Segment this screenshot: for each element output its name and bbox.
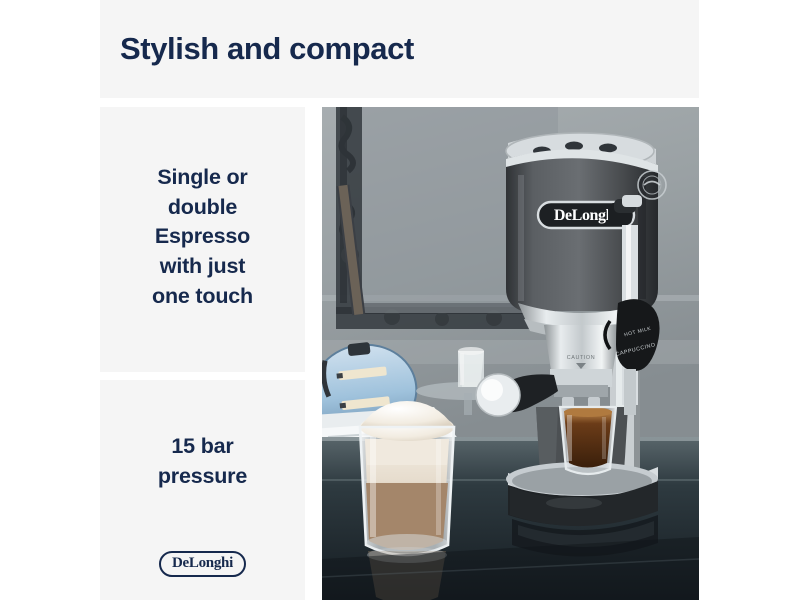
- header-panel: Stylish and compact: [100, 0, 699, 98]
- logo-wordmark: DeLonghi: [172, 555, 233, 572]
- promo-banner: Stylish and compact Single or double Esp…: [0, 0, 800, 600]
- brand-logo: DeLonghi: [159, 551, 246, 577]
- feature-panel-pressure: 15 bar pressure DeLonghi: [100, 380, 305, 600]
- svg-text:CAUTION: CAUTION: [567, 355, 595, 361]
- feature-panel-one-touch-espresso: Single or double Espresso with just one …: [100, 107, 305, 372]
- page-title: Stylish and compact: [120, 33, 414, 66]
- feature-text: 15 bar pressure: [152, 432, 253, 491]
- product-photo: DeLonghi CAUTION: [322, 107, 699, 600]
- logo-pill-outline: DeLonghi: [159, 551, 246, 577]
- feature-text: Single or double Espresso with just one …: [146, 163, 259, 311]
- product-photo-illustration: DeLonghi CAUTION: [322, 107, 699, 600]
